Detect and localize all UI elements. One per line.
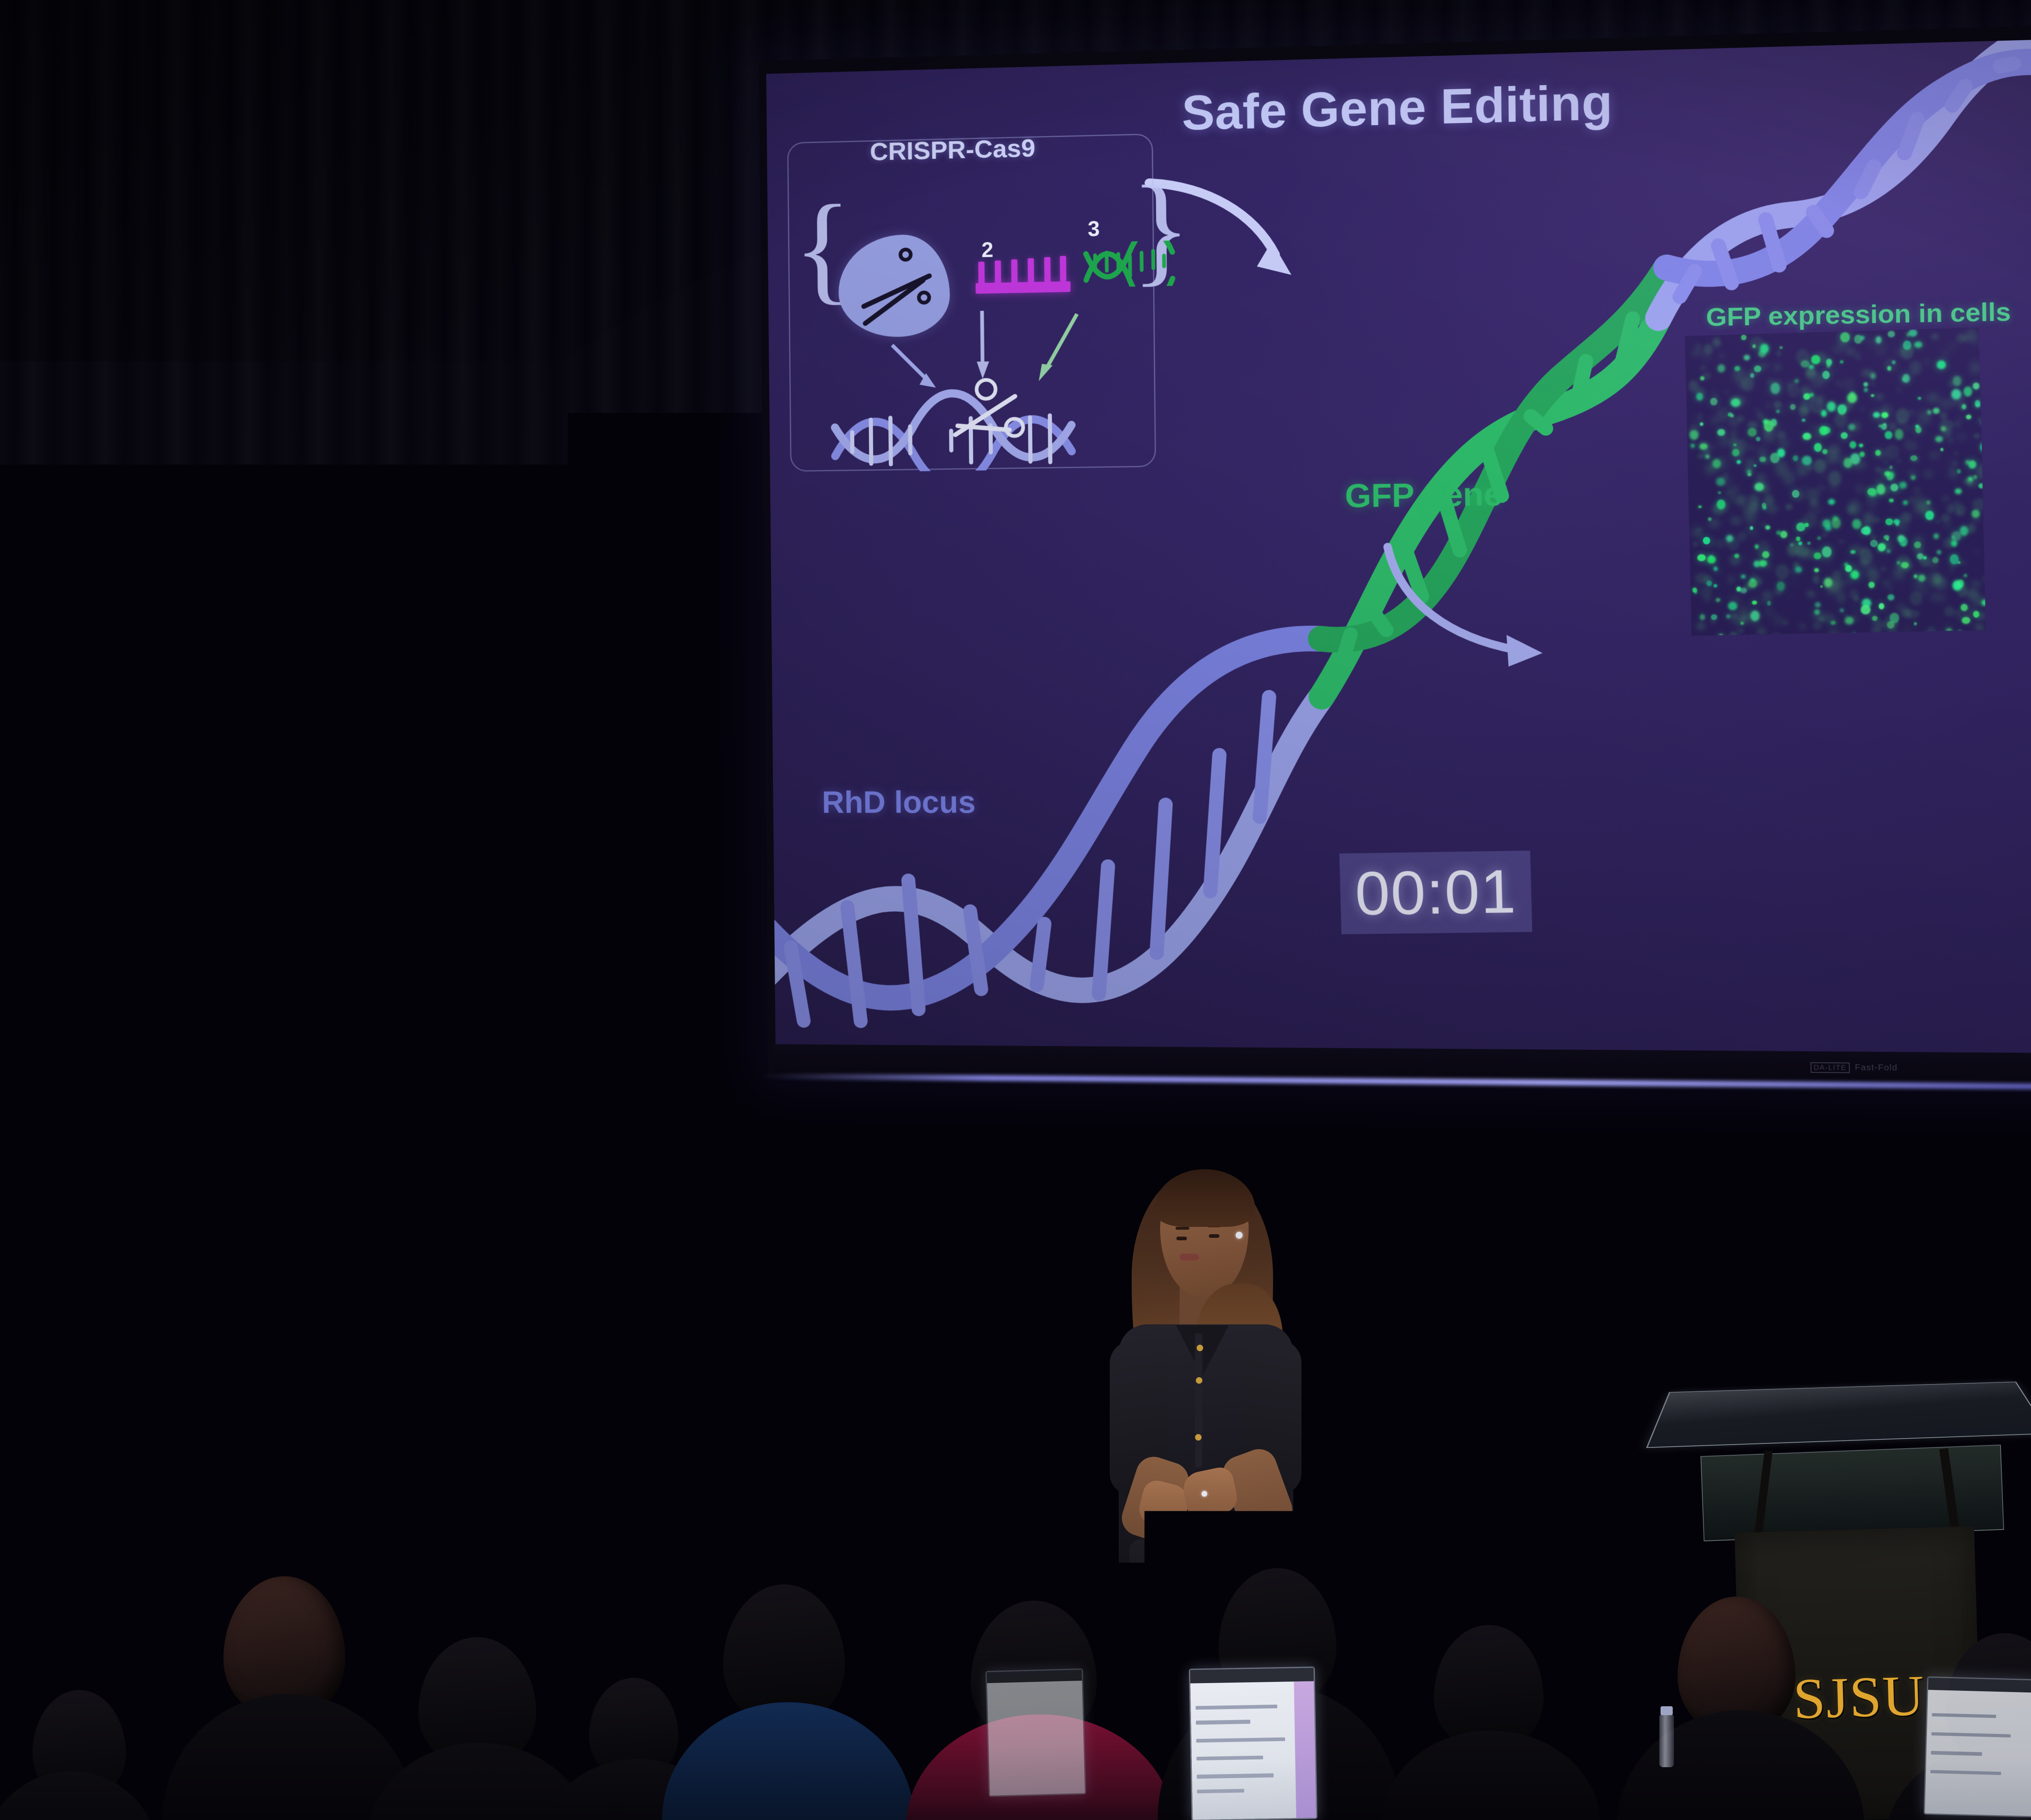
gfp-cell-bright: [1795, 379, 1798, 383]
gfp-cell-dim: [1881, 567, 1886, 571]
gfp-cell-dim: [1731, 613, 1737, 620]
gfp-cell-bright: [1875, 450, 1881, 456]
grna-tooth: [995, 260, 1001, 286]
laptop-screen-line: [1931, 1751, 1982, 1756]
gfp-cell-dim: [1787, 594, 1792, 597]
gfp-cell-dim: [1960, 416, 1963, 419]
gfp-cell-bright: [1750, 611, 1760, 622]
gfp-cell-dim: [1961, 560, 1966, 565]
gfp-cell-dim: [1778, 438, 1789, 449]
laptop-screen-line: [1196, 1705, 1277, 1710]
laptop-screen-sidebar: [1294, 1681, 1316, 1818]
gfp-cell-dim: [1910, 591, 1922, 606]
gfp-cell-dim: [1948, 342, 1957, 350]
gfp-cell-dim: [1966, 589, 1979, 600]
gfp-cell-dim: [1904, 440, 1918, 451]
gfp-cell-dim: [1889, 422, 1897, 431]
gfp-cell-dim: [1726, 390, 1729, 393]
gfp-cell-bright: [1918, 397, 1921, 400]
gfp-cell-bright: [1895, 429, 1903, 440]
gfp-cell-bright: [1884, 431, 1892, 439]
gfp-cell-dim: [1883, 580, 1890, 587]
gfp-cell-bright: [1821, 410, 1827, 417]
gfp-cell-dim: [1929, 450, 1941, 461]
gfp-cell-dim: [1860, 407, 1864, 411]
gfp-cell-bright: [1698, 505, 1702, 508]
gfp-cell-dim: [1773, 401, 1781, 409]
gfp-cell-dim: [1792, 578, 1796, 581]
gfp-cell-dim: [1791, 569, 1795, 574]
audience-shoulders: [1617, 1710, 1864, 1820]
gfp-cell-dim: [1719, 353, 1725, 359]
gfp-expression-label: GFP expression in cells: [1706, 297, 2011, 332]
gfp-cell-bright: [1934, 533, 1939, 539]
gfp-cell-bright: [1870, 373, 1875, 379]
gfp-cell-bright: [1937, 550, 1941, 554]
donor-dna-icon: [1083, 240, 1178, 288]
gfp-cell-dim: [1873, 621, 1886, 630]
gfp-cell-bright: [1790, 404, 1795, 410]
presenter-eye-left: [1176, 1237, 1187, 1240]
gfp-cell-bright: [1889, 498, 1894, 503]
gfp-cell-bright: [1864, 388, 1868, 392]
gfp-cell-bright: [1750, 373, 1754, 378]
gfp-cell-bright: [1848, 424, 1855, 430]
gfp-cell-dim: [1799, 623, 1806, 630]
banner-title-grad: GRAD: [256, 1186, 586, 1259]
laptop-screen-line: [1197, 1756, 1263, 1761]
gfp-cell-dim: [1839, 539, 1844, 544]
gfp-cell-dim: [1697, 453, 1705, 459]
gfp-cell-bright: [1728, 602, 1737, 610]
gfp-cell-bright: [1840, 332, 1850, 342]
gfp-cell-bright: [1754, 483, 1764, 491]
gfp-cell-dim: [1697, 528, 1702, 532]
gfp-cell-dim: [1914, 504, 1925, 516]
gfp-cell-bright: [1703, 537, 1710, 544]
gfp-cell-bright: [1780, 347, 1782, 349]
gfp-cell-bright: [1896, 522, 1899, 526]
gfp-cell-bright: [1796, 522, 1806, 532]
gfp-cell-bright: [1843, 458, 1852, 468]
gfp-cell-dim: [1737, 606, 1750, 615]
gfp-cell-dim: [1743, 504, 1754, 513]
gfp-cell-dim: [1747, 444, 1755, 451]
bottle-cap: [1661, 1706, 1673, 1715]
gfp-cell-dim: [1954, 452, 1958, 454]
water-bottle: [1659, 1714, 1674, 1767]
gfp-cell-bright: [1957, 470, 1961, 473]
gfp-cell-bright: [1935, 436, 1943, 442]
gfp-cell-dim: [1793, 432, 1796, 436]
gfp-cell-bright: [1832, 518, 1840, 529]
gfp-cell-dim: [1909, 497, 1915, 503]
gfp-cell-bright: [1726, 535, 1733, 542]
gfp-cell-dim: [1941, 514, 1950, 522]
gfp-cell-dim: [1875, 394, 1883, 401]
gfp-cell-bright: [1831, 621, 1836, 625]
crispr-item-2-number: 2: [981, 238, 994, 262]
presenter-shirt-placket: [1195, 1333, 1202, 1467]
gfp-cell-dim: [1894, 505, 1900, 510]
gfp-cell-bright: [1962, 404, 1966, 409]
gfp-cell-bright: [1886, 518, 1893, 525]
gfp-cell-bright: [1763, 419, 1768, 424]
gfp-cell-bright: [1914, 341, 1923, 348]
gfp-cell-bright: [1717, 364, 1725, 372]
gfp-cell-dim: [1730, 516, 1742, 526]
gfp-cell-bright: [1716, 598, 1720, 602]
gfp-cell-bright: [1741, 335, 1747, 340]
stage-scene: CRISPR-Cas9 { } 1 2: [0, 0, 2031, 1820]
gfp-cell-bright: [1925, 511, 1934, 520]
gfp-cell-dim: [1717, 441, 1721, 445]
gfp-cell-bright: [1966, 415, 1971, 420]
gfp-cell-dim: [1726, 483, 1729, 487]
gfp-cell-dim: [1897, 459, 1901, 463]
gfp-cell-bright: [1713, 584, 1717, 588]
gfp-cell-dim: [1810, 593, 1815, 598]
grna-tooth: [1060, 256, 1066, 282]
gfp-cell-dim: [1942, 398, 1955, 409]
gfp-cell-bright: [1887, 621, 1895, 628]
gfp-cell-bright: [1847, 393, 1857, 403]
laptop-chrome: [1190, 1668, 1314, 1683]
gfp-cell-bright: [1955, 488, 1962, 494]
gfp-cell-bright: [1867, 488, 1876, 496]
gfp-cell-bright: [1710, 398, 1717, 405]
gfp-cell-bright: [1838, 404, 1847, 414]
gfp-cell-dim: [1969, 333, 1978, 344]
gfp-cell-bright: [1804, 393, 1810, 400]
gfp-cell-dim: [1755, 622, 1761, 627]
gfp-cell-bright: [1888, 331, 1895, 337]
gfp-cell-bright: [1884, 471, 1890, 477]
gfp-cell-bright: [1802, 456, 1811, 465]
gfp-cell-bright: [1814, 552, 1821, 559]
laptop-screen-line: [1930, 1770, 2001, 1775]
gfp-cell-dim: [1881, 560, 1885, 563]
gfp-cell-dim: [1755, 474, 1767, 483]
gfp-cell-bright: [1973, 382, 1980, 390]
gfp-cell-bright: [1765, 525, 1770, 530]
gfp-cell-dim: [1845, 579, 1852, 586]
banner-tagline-line: minds tackle the world's: [325, 1374, 519, 1397]
gfp-cell-dim: [1948, 458, 1957, 467]
gfp-cell-dim: [1821, 533, 1827, 537]
gfp-cell-bright: [1747, 428, 1757, 437]
gfp-cell-dim: [1812, 575, 1820, 584]
gfp-cell-bright: [1859, 444, 1863, 447]
lectern-glass-top: [1646, 1382, 2031, 1448]
gfp-cell-dim: [1756, 409, 1760, 414]
gfp-cell-bright: [1760, 344, 1769, 353]
gfp-cell-bright: [1933, 408, 1939, 414]
gfp-cell-dim: [1804, 486, 1807, 490]
gfp-cell-bright: [1711, 614, 1717, 620]
gfp-cell-dim: [1728, 576, 1734, 581]
gfp-cell-bright: [1801, 360, 1810, 368]
countdown-timer: 00:01: [1339, 851, 1532, 934]
gfp-cell-bright: [1796, 537, 1800, 541]
rhd-locus-label: RhD locus: [822, 784, 976, 820]
gfp-cell-bright: [1750, 578, 1754, 581]
gfp-cell-bright: [1700, 376, 1705, 380]
banner-tagline-line: SJSU's brightest: [355, 1351, 489, 1373]
presenter-eye-right: [1209, 1234, 1219, 1238]
gfp-cell-dim: [1749, 530, 1758, 537]
gfp-cell-dim: [1968, 524, 1976, 533]
projection-screen-assembly: CRISPR-Cas9 { } 1 2: [764, 61, 2031, 1077]
gfp-cell-bright: [1902, 374, 1910, 383]
gfp-cell-dim: [1923, 359, 1931, 366]
gfp-cell-bright: [1951, 531, 1961, 541]
gfp-cell-bright: [1814, 443, 1822, 452]
gfp-cell-dim: [1970, 361, 1981, 374]
gfp-cell-bright: [1754, 464, 1757, 467]
presenter-hair-front: [1154, 1169, 1255, 1227]
gfp-cell-dim: [1855, 483, 1866, 494]
gfp-cell-dim: [1693, 542, 1698, 546]
gfp-cell-dim: [1912, 486, 1921, 495]
gfp-cell-bright: [1706, 581, 1712, 587]
gfp-cell-dim: [1841, 377, 1856, 390]
gfp-cell-dim: [1723, 473, 1728, 479]
gfp-cell-bright: [1827, 402, 1836, 412]
gfp-cell-bright: [1795, 566, 1802, 572]
gfp-cell-dim: [1698, 414, 1702, 419]
gfp-cell-bright: [1927, 410, 1931, 414]
crispr-inset-title: CRISPR-Cas9: [870, 134, 1035, 167]
gfp-cell-bright: [1860, 451, 1865, 457]
crispr-inset-panel: CRISPR-Cas9 { } 1 2: [787, 134, 1156, 472]
grna-tooth: [1028, 258, 1034, 284]
gfp-cell-dim: [1829, 562, 1833, 566]
gfp-cell-bright: [1962, 617, 1970, 624]
gfp-cell-dim: [1870, 380, 1875, 386]
gfp-cell-bright: [1780, 531, 1787, 538]
gfp-cell-bright: [1932, 557, 1938, 563]
gfp-cell-bright: [1817, 537, 1821, 540]
gfp-cell-dim: [1938, 594, 1945, 602]
gfp-cell-dim: [1777, 431, 1786, 440]
banner-tagline: SJSU's brightestminds tackle the world's…: [258, 1349, 587, 1447]
gfp-cell-bright: [1820, 585, 1823, 588]
gfp-cell-dim: [1776, 564, 1789, 579]
gfp-cell-bright: [1776, 410, 1780, 413]
presenter-brow-left: [1176, 1227, 1189, 1230]
audience-shoulders: [1381, 1731, 1600, 1820]
grna-tooth: [978, 262, 985, 287]
gfp-cell-bright: [1815, 602, 1821, 608]
gfp-cell-dim: [1812, 622, 1822, 630]
gfp-cell-dim: [1970, 580, 1981, 587]
gfp-cell-dim: [1885, 444, 1899, 460]
gfp-cell-bright: [1872, 616, 1877, 621]
gfp-cell-dim: [1954, 421, 1961, 427]
gfp-cell-dim: [1949, 570, 1953, 572]
gfp-cell-bright: [1754, 365, 1762, 373]
presenter-ring: [1202, 1491, 1207, 1497]
screen-brand-name: DA-LITE: [1810, 1062, 1849, 1073]
gfp-cell-bright: [1767, 601, 1771, 606]
gfp-cell-bright: [1871, 394, 1874, 397]
gfp-cell-dim: [1782, 620, 1788, 625]
audience-shoulders: [0, 1771, 158, 1820]
laptop-screen-line: [1197, 1789, 1244, 1794]
gfp-cell-bright: [1716, 478, 1725, 486]
gfp-gene-label: GFP gene: [1345, 475, 1503, 515]
gfp-cell-dim: [1765, 404, 1771, 408]
gfp-cell-bright: [1914, 622, 1917, 625]
gfp-cell-bright: [1825, 525, 1831, 531]
gfp-cell-bright: [1752, 600, 1757, 605]
screen-brand-model: Fast-Fold: [1855, 1063, 1898, 1073]
gfp-cell-dim: [1836, 591, 1846, 603]
gfp-cell-bright: [1823, 427, 1831, 434]
laptop-screen-line: [1197, 1773, 1273, 1779]
gfp-cell-bright: [1863, 526, 1871, 535]
gfp-cell-bright: [1741, 622, 1744, 625]
gfp-cell-dim: [1901, 608, 1911, 617]
gfp-cell-dim: [1711, 390, 1718, 395]
gfp-cell-bright: [1740, 587, 1747, 593]
gfp-cell-dim: [1704, 344, 1713, 355]
gfp-cell-dim: [1773, 363, 1782, 371]
gfp-cell-dim: [1782, 411, 1785, 414]
gfp-cell-dim: [1712, 337, 1721, 346]
gfp-cell-bright: [1964, 386, 1973, 396]
gfp-cell-bright: [1728, 412, 1732, 417]
gfp-cell-dim: [1700, 587, 1713, 599]
gfp-cell-dim: [1851, 434, 1856, 439]
gfp-cell-bright: [1910, 475, 1915, 480]
gfp-cell-bright: [1718, 492, 1721, 494]
gfp-cell-dim: [1902, 423, 1912, 433]
gfp-cell-bright: [1870, 540, 1878, 547]
gfp-cell-bright: [1937, 360, 1946, 369]
gfp-cell-dim: [1895, 370, 1898, 373]
gfp-cell-bright: [1909, 329, 1917, 337]
laptop-screen-line: [1931, 1713, 1996, 1718]
audience-laptop: [985, 1668, 1086, 1797]
gfp-cell-bright: [1743, 355, 1750, 360]
gfp-cell-bright: [1961, 604, 1968, 611]
gfp-cell-bright: [1696, 392, 1703, 401]
gfp-cell-dim: [1897, 388, 1902, 393]
gfp-cell-dim: [1868, 338, 1875, 346]
gfp-cell-bright: [1827, 364, 1830, 367]
gfp-cell-bright: [1889, 466, 1892, 469]
presenter-earring: [1236, 1232, 1243, 1239]
gfp-cell-bright: [1951, 540, 1957, 547]
gfp-cell-dim: [1884, 460, 1888, 464]
gfp-cell-bright: [1964, 574, 1967, 577]
gfp-cell-bright: [1896, 561, 1900, 565]
gfp-cell-dim: [1957, 433, 1966, 440]
gfp-cell-bright: [1802, 418, 1806, 422]
gfp-cell-dim: [1841, 626, 1845, 629]
gfp-cell-dim: [1806, 386, 1814, 392]
gfp-cell-dim: [1819, 473, 1827, 479]
gfp-cell-bright: [1762, 503, 1766, 508]
gfp-cell-dim: [1814, 459, 1826, 473]
gfp-cell-bright: [1777, 581, 1785, 591]
gfp-cell-bright: [1700, 443, 1708, 450]
gfp-cell-bright: [1828, 499, 1835, 505]
audience-foreground: [0, 1503, 2031, 1820]
banner-university-name: SAN JOSÉ STATE UNIVERSITY: [255, 1087, 584, 1108]
gfp-cell-dim: [1853, 606, 1857, 610]
gfp-cell-bright: [1903, 500, 1908, 505]
gfp-cell-bright: [1807, 542, 1810, 545]
gfp-cell-dim: [1835, 380, 1842, 387]
gfp-cell-bright: [1741, 575, 1746, 579]
gfp-cell-bright: [1860, 335, 1864, 340]
projected-slide: CRISPR-Cas9 { } 1 2: [766, 35, 2031, 1055]
gfp-cell-dim: [1848, 500, 1861, 516]
laptop-chrome: [1928, 1678, 2031, 1693]
gfp-cell-dim: [1942, 351, 1949, 357]
gfp-cell-bright: [1750, 526, 1753, 530]
gfp-cell-bright: [1756, 437, 1760, 441]
gfp-cell-dim: [1776, 350, 1782, 356]
gfp-cell-dim: [1828, 470, 1841, 486]
banner-tagline-line: toughest problems: [347, 1398, 498, 1421]
gfp-cell-dim: [1896, 408, 1910, 425]
screen-brand-label: DA-LITEFast-Fold: [1810, 1063, 1898, 1073]
gfp-fluorescence-image: [1685, 327, 1986, 636]
gfp-cell-dim: [1931, 334, 1939, 339]
gfp-cell-dim: [1701, 365, 1706, 371]
gfp-cell-dim: [1764, 609, 1773, 615]
gfp-cell-dim: [1973, 548, 1981, 554]
laptop-screen-line: [1196, 1720, 1250, 1725]
gfp-cell-bright: [1705, 455, 1710, 459]
gfp-cell-bright: [1754, 561, 1760, 568]
gfp-cell-dim: [1940, 412, 1947, 420]
guide-rna-icon: [976, 281, 1071, 294]
gfp-cell-bright: [1717, 499, 1726, 509]
gfp-cell-bright: [1940, 448, 1943, 451]
gfp-cell-bright: [1974, 475, 1977, 479]
gfp-cell-dim: [1729, 417, 1738, 427]
gfp-cell-dim: [1945, 522, 1951, 528]
gfp-cell-bright: [1840, 360, 1843, 364]
gfp-cell-bright: [1759, 456, 1766, 462]
gfp-cell-dim: [1875, 466, 1882, 473]
presenter-shirt-button: [1197, 1345, 1203, 1351]
presenter-shirt-button: [1196, 1377, 1202, 1384]
gfp-cell-dim: [1834, 413, 1848, 428]
audience-laptop: [1189, 1666, 1317, 1820]
gfp-cell-dim: [1834, 345, 1844, 354]
gfp-cell-bright: [1887, 550, 1890, 552]
gfp-cell-bright: [1849, 441, 1856, 448]
gfp-cell-bright: [1731, 398, 1741, 407]
gfp-cell-dim: [1893, 567, 1904, 580]
gfp-cell-dim: [1832, 366, 1838, 373]
gfp-cell-bright: [1845, 617, 1854, 624]
gfp-cell-dim: [1711, 417, 1719, 424]
gfp-cell-bright: [1700, 422, 1703, 426]
gfp-cell-dim: [1728, 582, 1732, 585]
gfp-cell-bright: [1793, 455, 1798, 461]
gfp-cell-dim: [1852, 563, 1856, 566]
gfp-cell-dim: [1867, 509, 1875, 518]
gfp-cell-dim: [1948, 438, 1953, 443]
gfp-cell-bright: [1888, 594, 1894, 600]
